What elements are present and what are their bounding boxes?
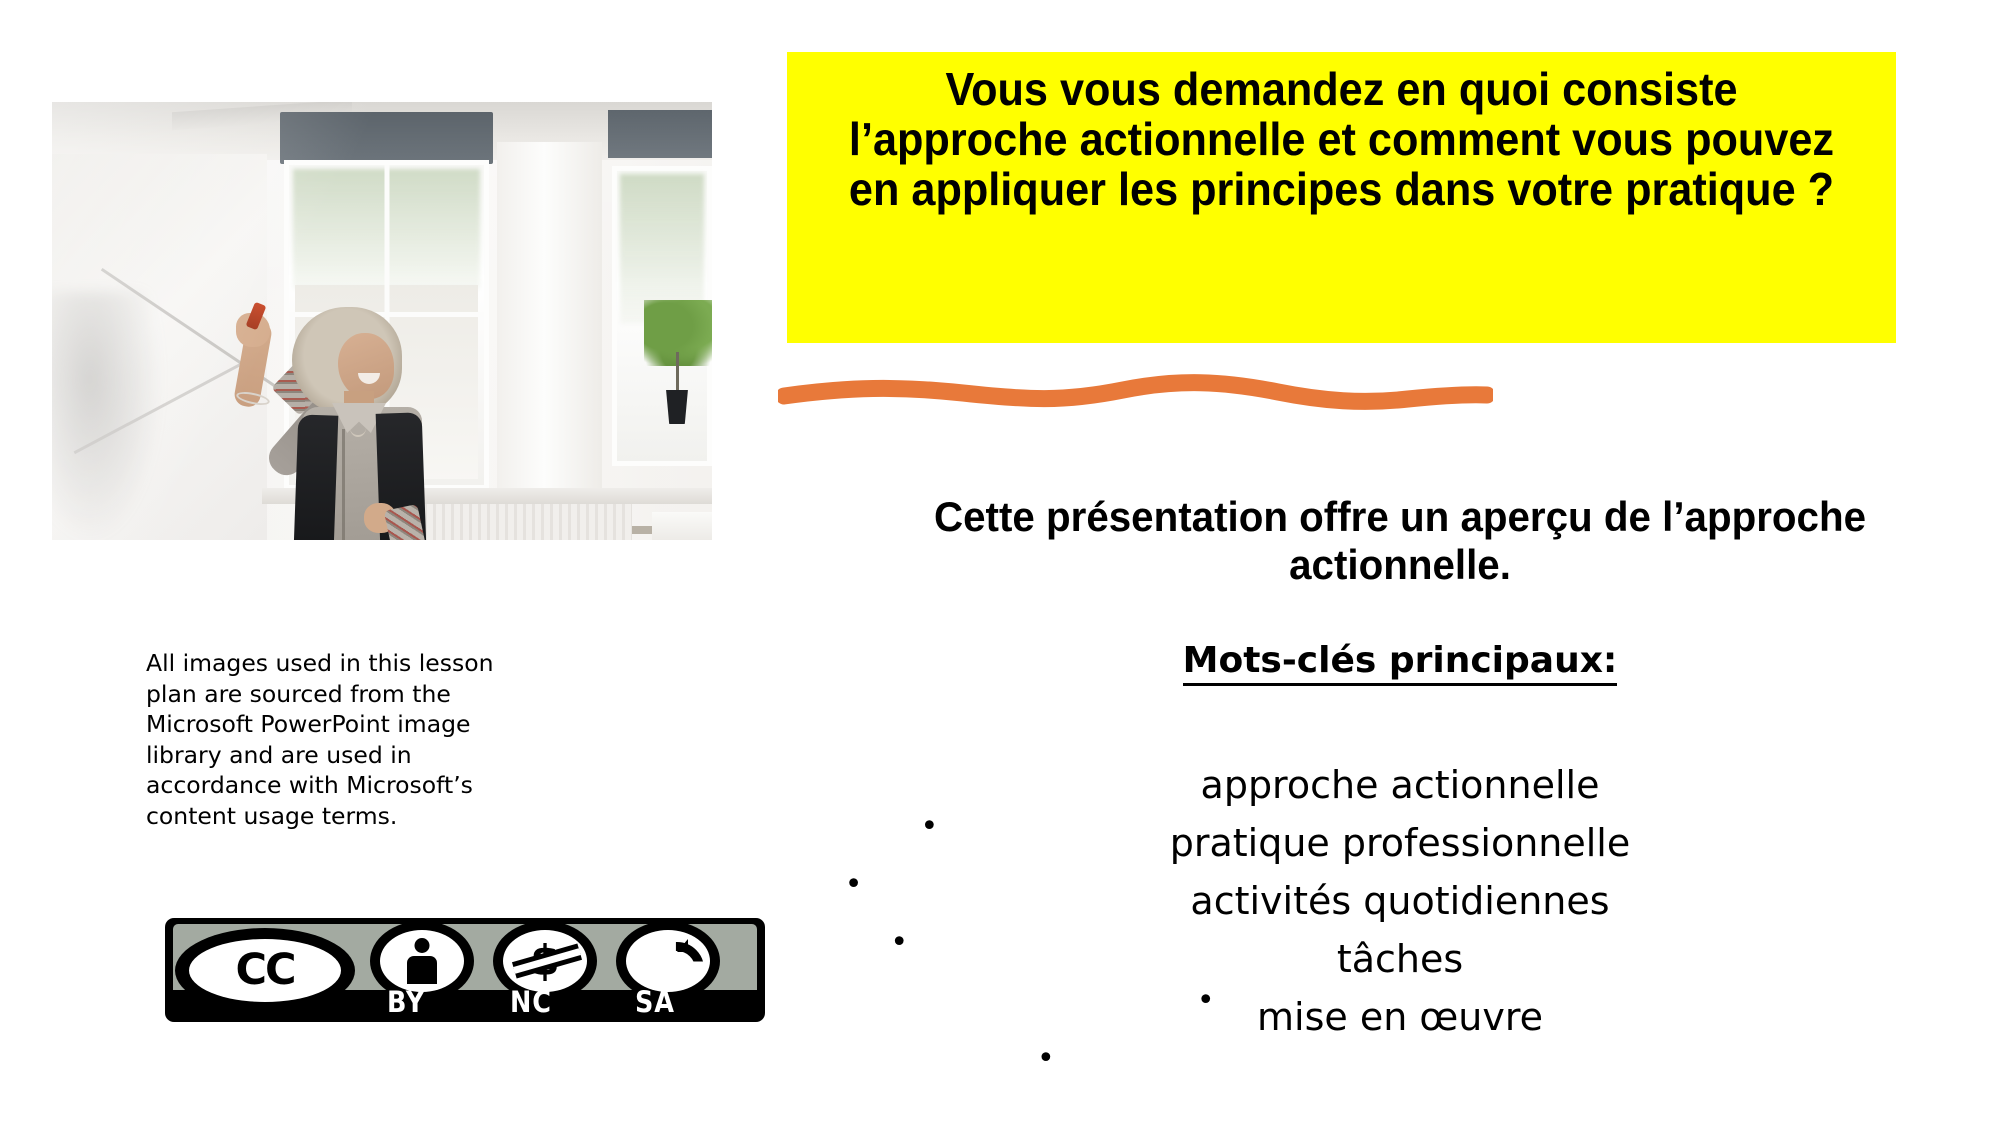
title-highlight-box: Vous vous demandez en quoi consiste l’ap… [787, 52, 1896, 343]
list-item: mise en œuvre [820, 988, 1980, 1046]
keyword-label: activités quotidiennes [1190, 879, 1609, 923]
arrow-head [677, 939, 688, 952]
wall-column [497, 142, 602, 502]
necklace [350, 419, 366, 437]
cc-by-nc-sa-badge: CC $ [165, 918, 765, 1022]
keyword-label: pratique professionnelle [1170, 821, 1631, 865]
keywords-list: approche actionnelle pratique profession… [820, 756, 1980, 1046]
person-head [415, 938, 430, 953]
photo-scene [52, 102, 712, 540]
image-attribution-text: All images used in this lesson plan are … [146, 648, 531, 831]
badge-label-nc: NC [510, 985, 552, 1019]
slide-canvas: All images used in this lesson plan are … [0, 0, 2001, 1125]
dollar-slash [513, 948, 580, 973]
shirt-placket [342, 429, 345, 540]
lead-paragraph: Cette présentation offre un aperçu de l’… [843, 493, 1957, 589]
list-item: approche actionnelle [820, 756, 1980, 814]
vest-left [294, 414, 339, 540]
face [338, 333, 394, 399]
woman-figure [192, 307, 462, 540]
nc-icon-inner: $ [503, 930, 587, 992]
keyword-label: approche actionnelle [1201, 763, 1600, 807]
circular-arrow-icon [645, 938, 691, 984]
window-blind-right [608, 110, 712, 158]
list-item: tâches [820, 930, 1980, 988]
keywords-heading-label: Mots-clés principaux: [1183, 640, 1618, 686]
squiggle-path [784, 383, 1487, 402]
sa-icon-inner [626, 930, 710, 992]
slide-title: Vous vous demandez en quoi consiste l’ap… [843, 64, 1840, 214]
plant-stem [676, 352, 679, 394]
cc-mark-label: CC [235, 949, 294, 992]
keyword-label: tâches [1337, 937, 1463, 981]
keyword-label: mise en œuvre [1257, 995, 1543, 1039]
by-icon-inner [380, 930, 464, 992]
list-item: activités quotidiennes [820, 872, 1980, 930]
badge-label-by: BY [387, 985, 425, 1019]
badge-label-sa: SA [635, 985, 675, 1019]
window-blind [280, 112, 493, 164]
crossed-dollar-icon: $ [515, 937, 575, 985]
orange-squiggle-divider [778, 368, 1493, 418]
desk [652, 512, 712, 540]
person-body [407, 956, 437, 984]
squiggle-svg [778, 368, 1493, 418]
office-woman-celebrating-photo [52, 102, 712, 540]
list-item: pratique professionnelle [820, 814, 1980, 872]
badge-term-labels: BY NC SA [165, 989, 765, 1019]
person-icon [405, 938, 439, 984]
keywords-heading: Mots-clés principaux: [820, 640, 1980, 681]
